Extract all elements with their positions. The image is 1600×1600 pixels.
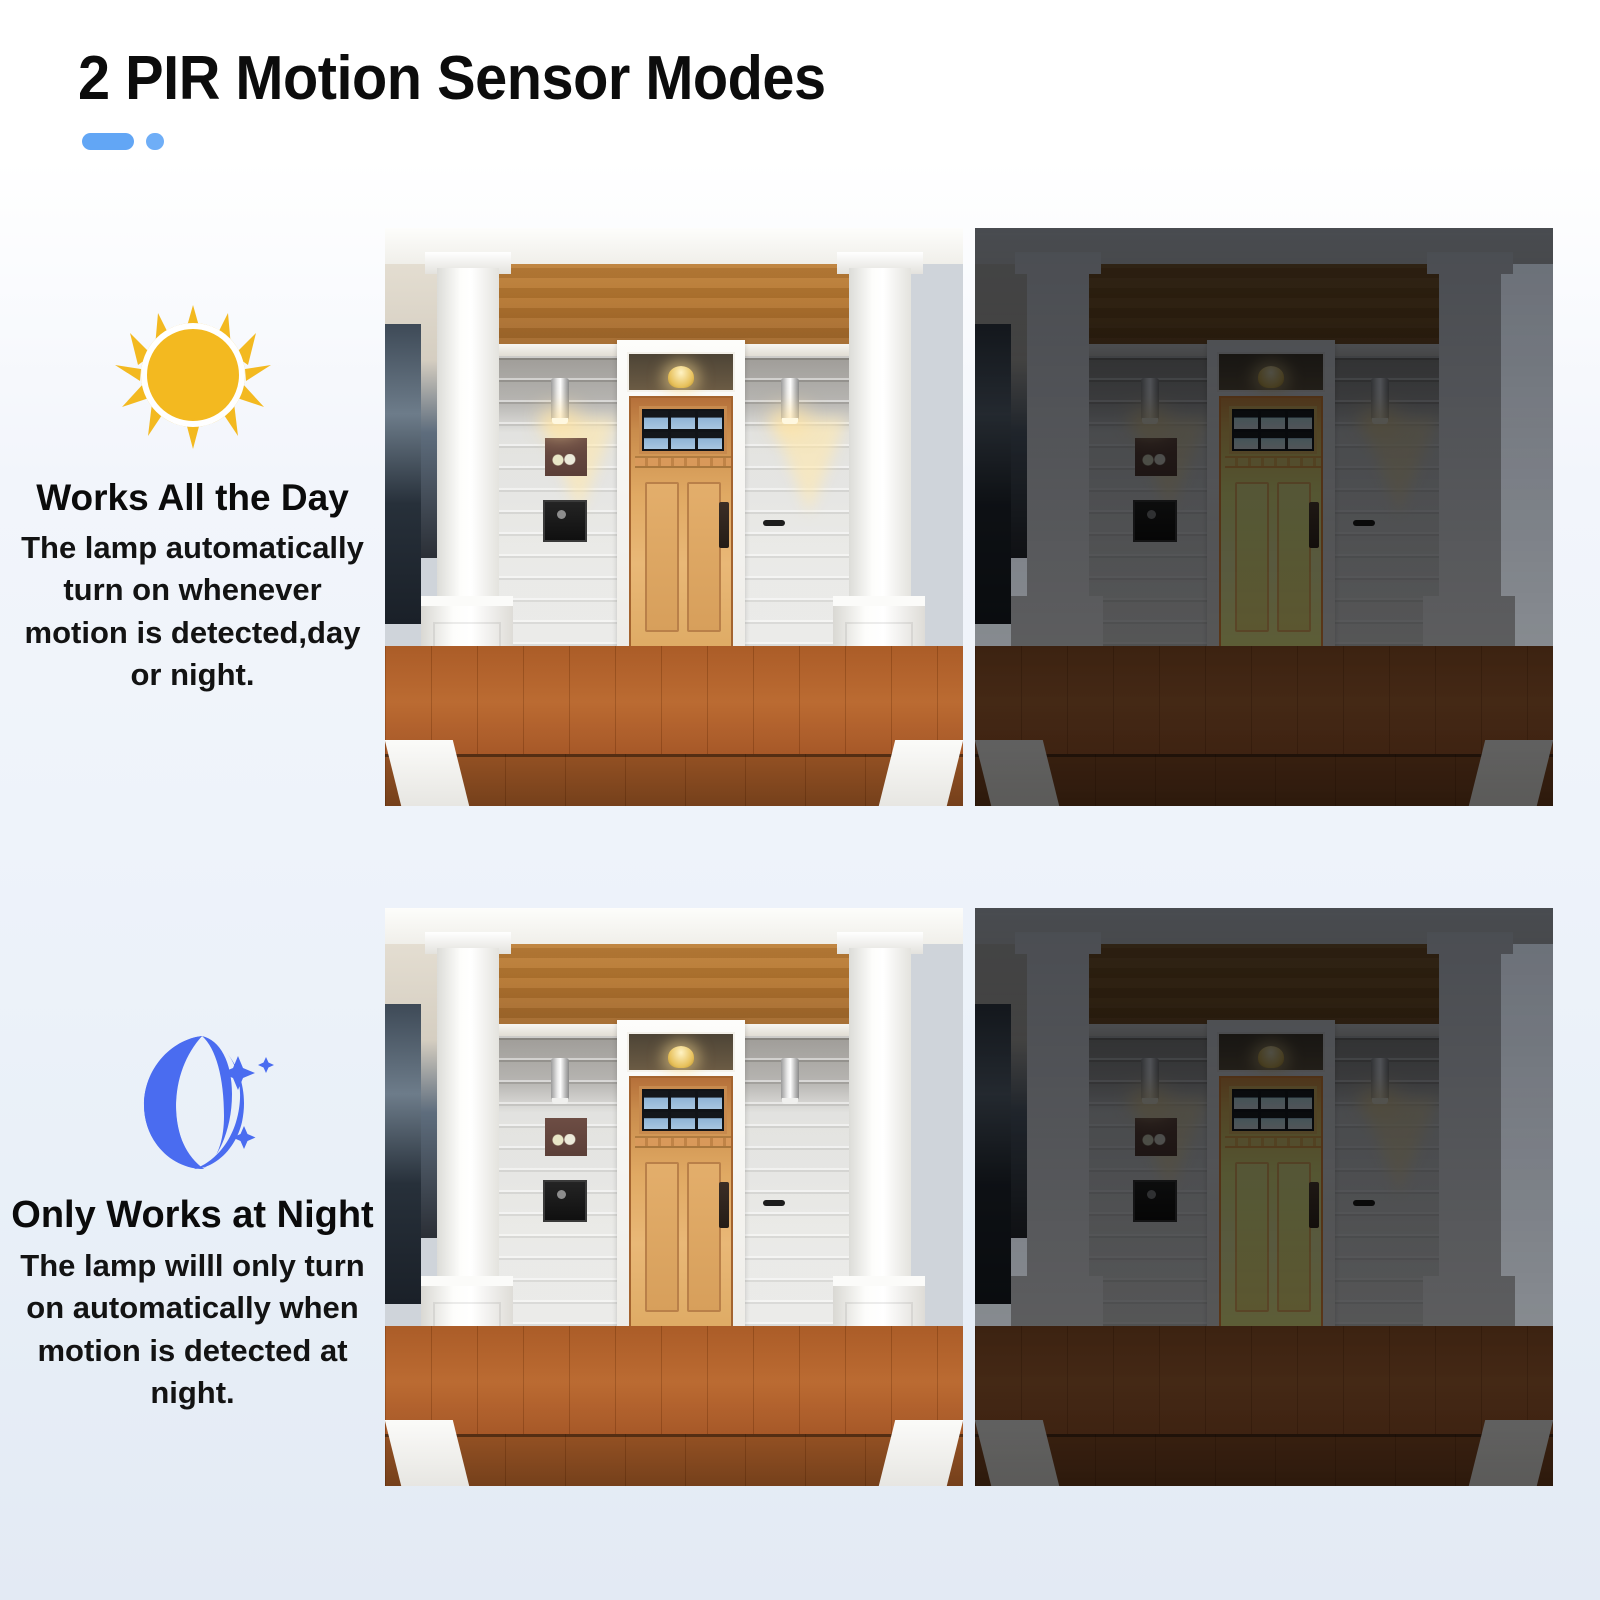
front-door bbox=[629, 1076, 733, 1356]
wall-planter bbox=[545, 1118, 587, 1156]
door-panel-right bbox=[687, 482, 721, 632]
title-accent-dashes bbox=[82, 133, 882, 150]
door-panel-left bbox=[1235, 1162, 1269, 1312]
porch-step bbox=[975, 1434, 1553, 1486]
door-panel-right bbox=[1277, 1162, 1311, 1312]
photo-daytime-lights-on bbox=[385, 228, 963, 806]
wall-sconce-left bbox=[551, 1058, 569, 1100]
accent-dash-long bbox=[82, 133, 134, 150]
door-handle bbox=[719, 1182, 729, 1228]
mode-heading: Works All the Day bbox=[36, 477, 349, 519]
wall-sconce-left bbox=[551, 378, 569, 420]
door-dentil-shelf bbox=[1225, 1136, 1321, 1148]
porch-step bbox=[385, 1434, 963, 1486]
front-door bbox=[1219, 1076, 1323, 1356]
wall-sconce-right bbox=[1371, 1058, 1389, 1100]
entry-pendant-light bbox=[1258, 366, 1284, 388]
door-glass-panes bbox=[1229, 1086, 1317, 1134]
door-glass-panes bbox=[639, 406, 727, 454]
mode-row-works-all-day: Works All the Day The lamp automatically… bbox=[0, 228, 1600, 808]
side-window bbox=[975, 1004, 1011, 1304]
mailbox bbox=[543, 1180, 587, 1222]
front-door bbox=[1219, 396, 1323, 676]
door-panel-left bbox=[645, 1162, 679, 1312]
wall-vent bbox=[763, 520, 785, 526]
wall-sconce-left bbox=[1141, 1058, 1159, 1100]
transom-window bbox=[627, 1032, 735, 1072]
mailbox bbox=[1133, 500, 1177, 542]
wall-vent bbox=[1353, 1200, 1375, 1206]
mailbox bbox=[1133, 1180, 1177, 1222]
door-dentil-shelf bbox=[1225, 456, 1321, 468]
side-window bbox=[385, 1004, 421, 1304]
wall-sconce-right bbox=[781, 1058, 799, 1100]
door-frame bbox=[1207, 340, 1335, 688]
door-frame bbox=[617, 1020, 745, 1368]
wall-sconce-left bbox=[1141, 378, 1159, 420]
door-panel-left bbox=[1235, 482, 1269, 632]
wall-planter bbox=[545, 438, 587, 476]
transom-window bbox=[1217, 1032, 1325, 1072]
entry-pendant-light bbox=[668, 366, 694, 388]
page-title: 2 PIR Motion Sensor Modes bbox=[78, 46, 826, 111]
door-handle bbox=[1309, 1182, 1319, 1228]
photo-nighttime-lights-on bbox=[975, 228, 1553, 806]
mode-caption-day: Works All the Day The lamp automatically… bbox=[0, 228, 385, 808]
transom-window bbox=[1217, 352, 1325, 392]
transom-window bbox=[627, 352, 735, 392]
door-handle bbox=[1309, 502, 1319, 548]
entry-pendant-light bbox=[1258, 1046, 1284, 1068]
wall-vent bbox=[1353, 520, 1375, 526]
porch-step bbox=[385, 754, 963, 806]
mailbox bbox=[543, 500, 587, 542]
mode-body: The lamp automatically turn on whenever … bbox=[13, 527, 373, 697]
door-frame bbox=[1207, 1020, 1335, 1368]
porch-step bbox=[975, 754, 1553, 806]
side-window bbox=[975, 324, 1011, 624]
photo-nighttime-lights-on bbox=[975, 908, 1553, 1486]
door-panel-right bbox=[1277, 482, 1311, 632]
entry-pendant-light bbox=[668, 1046, 694, 1068]
accent-dash-dot bbox=[146, 133, 164, 150]
door-dentil-shelf bbox=[635, 1136, 731, 1148]
door-dentil-shelf bbox=[635, 456, 731, 468]
header: 2 PIR Motion Sensor Modes bbox=[78, 46, 882, 150]
wall-sconce-right bbox=[1371, 378, 1389, 420]
door-panel-right bbox=[687, 1162, 721, 1312]
wall-sconce-right bbox=[781, 378, 799, 420]
door-frame bbox=[617, 340, 745, 688]
door-glass-panes bbox=[639, 1086, 727, 1134]
side-window bbox=[385, 324, 421, 624]
front-door bbox=[629, 396, 733, 676]
mode-heading: Only Works at Night bbox=[11, 1194, 373, 1237]
door-handle bbox=[719, 502, 729, 548]
sun-icon bbox=[98, 303, 288, 453]
mode-body: The lamp willl only turn on automaticall… bbox=[9, 1245, 377, 1415]
photo-daytime-lights-off bbox=[385, 908, 963, 1486]
moon-icon bbox=[98, 1026, 288, 1176]
door-panel-left bbox=[645, 482, 679, 632]
door-glass-panes bbox=[1229, 406, 1317, 454]
mode-row-only-at-night: Only Works at Night The lamp willl only … bbox=[0, 908, 1600, 1488]
wall-vent bbox=[763, 1200, 785, 1206]
wall-planter bbox=[1135, 1118, 1177, 1156]
mode-caption-night: Only Works at Night The lamp willl only … bbox=[0, 908, 385, 1488]
wall-planter bbox=[1135, 438, 1177, 476]
